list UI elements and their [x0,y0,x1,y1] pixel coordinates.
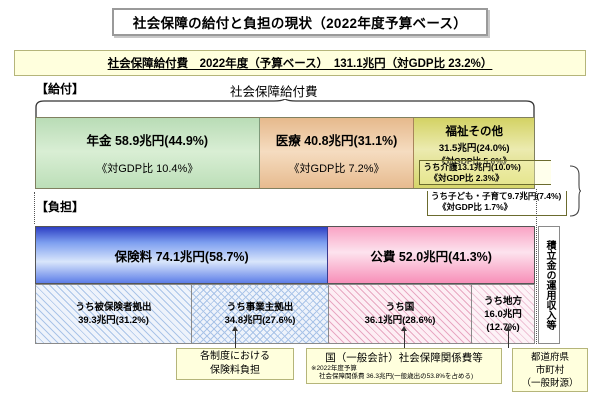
local-government-amount: 16.0兆円 [484,308,522,321]
note-national-title: 国（一般会計）社会保障関係費等 [325,352,483,365]
leader-arrow-local-icon [505,326,511,331]
leader-line-premium [235,330,236,348]
national-government-title: うち国 [386,301,415,314]
childcare-gdp-label: 《対GDP比 1.7%》 [431,202,566,213]
childcare-amount-label: うち子ども・子育て9.7兆円(7.4%) [431,191,566,202]
vertical-divider-left [34,192,35,224]
subbox-employer-contribution: うち事業主拠出 34.8兆円(27.6%) [191,284,329,344]
burden-subcategory-row: うち被保険者拠出 39.3兆円(31.2%) うち事業主拠出 34.8兆円(27… [35,284,535,344]
note-local-line1: 都道府県 [531,351,569,364]
benefit-bar: 年金 58.9兆円(44.9%) 《対GDP比 10.4%》 医療 40.8兆円… [35,117,535,189]
burden-bar: 保険料 74.1兆円(58.7%) 公費 52.0兆円(41.3%) [35,226,535,284]
note-local-government: 都道府県 市町村 （一般財源） [512,348,588,392]
note-premium-line2: 保険料負担 [210,364,260,378]
subbox-insured-contribution: うち被保険者拠出 39.3兆円(31.2%) [35,284,191,344]
page-title: 社会保障の給付と負担の現状（2022年度予算ベース） [112,8,488,36]
note-premium-burden: 各制度における 保険料負担 [176,348,294,380]
welfare-amount-label: 31.5兆円(24.0%) [439,140,510,154]
subbox-local-government: うち地方 16.0兆円 (12.7%) [472,284,535,344]
childcare-callout: うち子ども・子育て9.7兆円(7.4%) 《対GDP比 1.7%》 [427,191,567,216]
leader-line-national [404,330,405,348]
premium-amount-label: 保険料 74.1兆円(58.7%) [115,246,249,265]
nursing-care-callout: うち介護13.1兆円(10.0%) 《対GDP比 2.3%》 [419,160,551,185]
note-national-budget: 国（一般会計）社会保障関係費等 ※2022年度予算 社会保障関係費 36.3兆円… [306,348,502,384]
note-local-line2: 市町村 [536,364,565,377]
note-national-sub1: ※2022年度予算 [307,365,357,373]
benefit-total-caption: 社会保障給付費 [230,81,318,100]
page-title-text: 社会保障の給付と負担の現状（2022年度予算ベース） [133,12,467,32]
note-premium-line1: 各制度における [200,350,270,364]
burden-section-label: 【負担】 [36,198,84,215]
reserve-investment-income-text: 積立金の運用収入等 [544,240,554,330]
benefit-segment-pension: 年金 58.9兆円(44.9%) 《対GDP比 10.4%》 [36,118,260,188]
diagram-canvas: 社会保障の給付と負担の現状（2022年度予算ベース） 社会保障給付費 2022年… [0,0,600,415]
vertical-divider-right [536,189,537,344]
note-national-sub2: 社会保障関係費 36.3兆円(一般歳出の53.8%を占める) [307,373,473,381]
national-government-amount: 36.1兆円(28.6%) [365,314,436,327]
subbox-national-government: うち国 36.1兆円(28.6%) [329,284,472,344]
benefit-segment-medical: 医療 40.8兆円(31.1%) 《対GDP比 7.2%》 [260,118,415,188]
nursing-care-amount-label: うち介護13.1兆円(10.0%) [423,162,551,173]
benefit-brace-icon [34,99,536,117]
insured-contribution-amount: 39.3兆円(31.2%) [78,314,149,327]
local-government-title: うち地方 [484,295,522,308]
subtitle-banner: 社会保障給付費 2022年度（予算ベース） 131.1兆円（対GDP比 23.2… [14,50,586,76]
medical-gdp-label: 《対GDP比 7.2%》 [289,160,385,176]
subtitle-text: 社会保障給付費 2022年度（予算ベース） 131.1兆円（対GDP比 23.2… [108,55,493,71]
insured-contribution-title: うち被保険者拠出 [75,301,151,314]
reserve-investment-income-label: 積立金の運用収入等 [538,226,560,344]
nursing-care-gdp-label: 《対GDP比 2.3%》 [423,173,551,184]
public-amount-label: 公費 52.0兆円(41.3%) [370,246,492,265]
benefit-section-label: 【給付】 [36,80,84,97]
leader-line-local [508,330,509,348]
note-local-line3: （一般財源） [521,377,578,390]
leader-arrow-premium-icon [232,326,238,331]
employer-contribution-title: うち事業主拠出 [227,301,294,314]
welfare-title-label: 福祉その他 [445,123,503,139]
local-government-share: (12.7%) [486,321,519,334]
burden-segment-public: 公費 52.0兆円(41.3%) [328,227,534,283]
leader-arrow-national-icon [401,326,407,331]
right-brace-icon [568,165,582,217]
medical-amount-label: 医療 40.8兆円(31.1%) [276,130,398,149]
pension-gdp-label: 《対GDP比 10.4%》 [96,160,198,176]
pension-amount-label: 年金 58.9兆円(44.9%) [87,130,209,149]
burden-segment-premium: 保険料 74.1兆円(58.7%) [36,227,328,283]
benefit-segment-welfare: 福祉その他 31.5兆円(24.0%) 《対GDP比 5.6%》 うち介護13.… [414,118,534,188]
